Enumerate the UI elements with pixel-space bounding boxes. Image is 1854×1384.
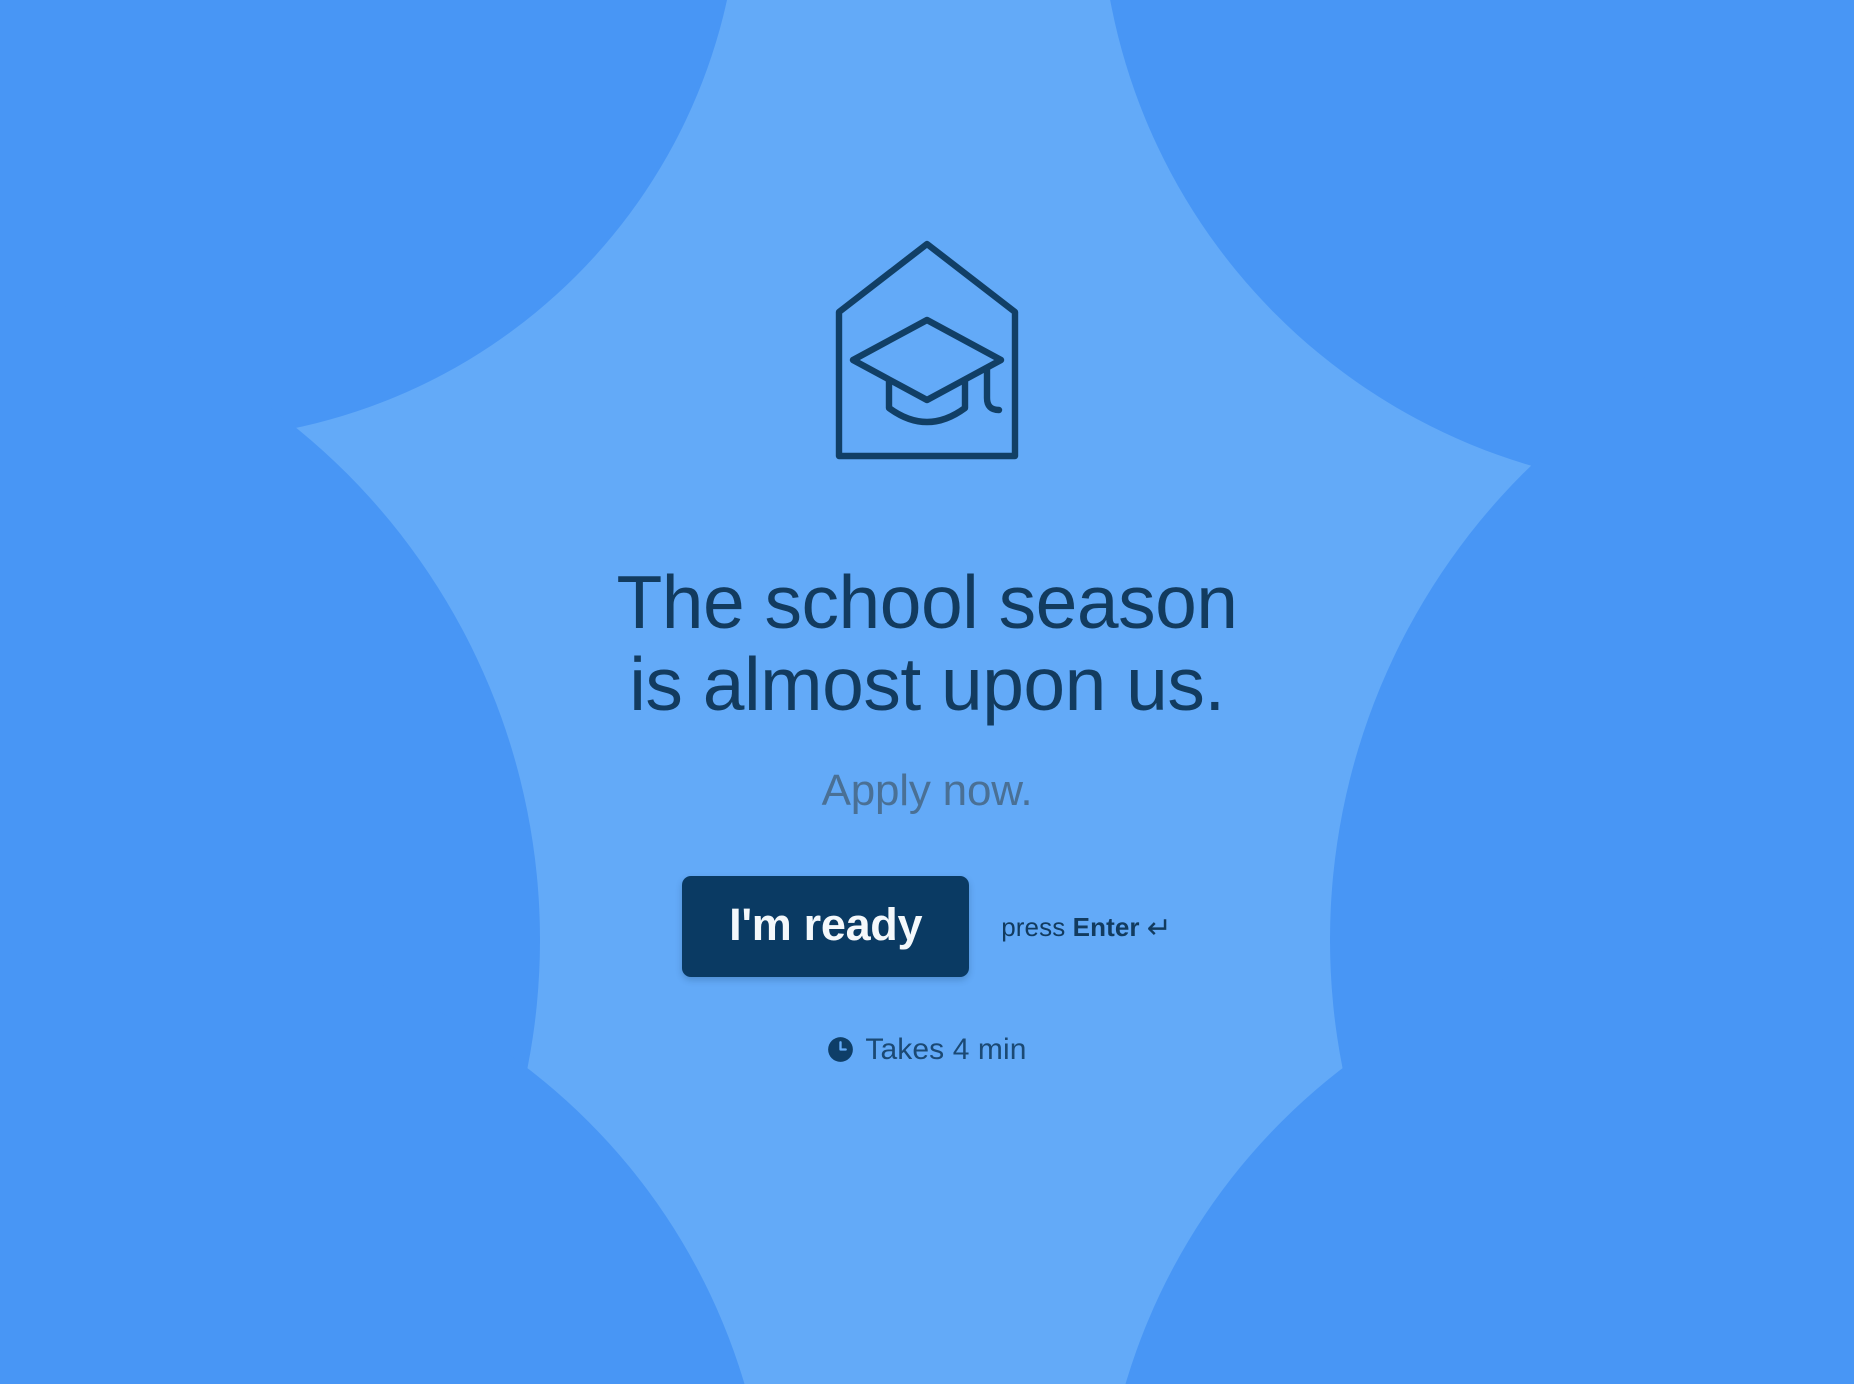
press-enter-hint: press Enter↵: [1001, 909, 1172, 944]
duration-note: Takes 4 min: [827, 1033, 1026, 1067]
school-building-graduation-cap-icon: [829, 236, 1025, 464]
hero-section: The school season is almost upon us. App…: [0, 0, 1854, 1384]
tassel: [987, 368, 999, 410]
cta-row: I'm ready press Enter↵: [682, 876, 1172, 977]
duration-text: Takes 4 min: [865, 1033, 1026, 1067]
im-ready-button[interactable]: I'm ready: [682, 876, 969, 977]
clock-icon: [827, 1036, 854, 1063]
page-subtitle: Apply now.: [822, 766, 1033, 816]
press-enter-key: Enter: [1073, 912, 1140, 942]
mortarboard: [853, 320, 1001, 400]
page-title: The school season is almost upon us.: [616, 562, 1237, 726]
return-arrow-icon: ↵: [1147, 912, 1172, 945]
press-enter-prefix: press: [1001, 912, 1065, 942]
